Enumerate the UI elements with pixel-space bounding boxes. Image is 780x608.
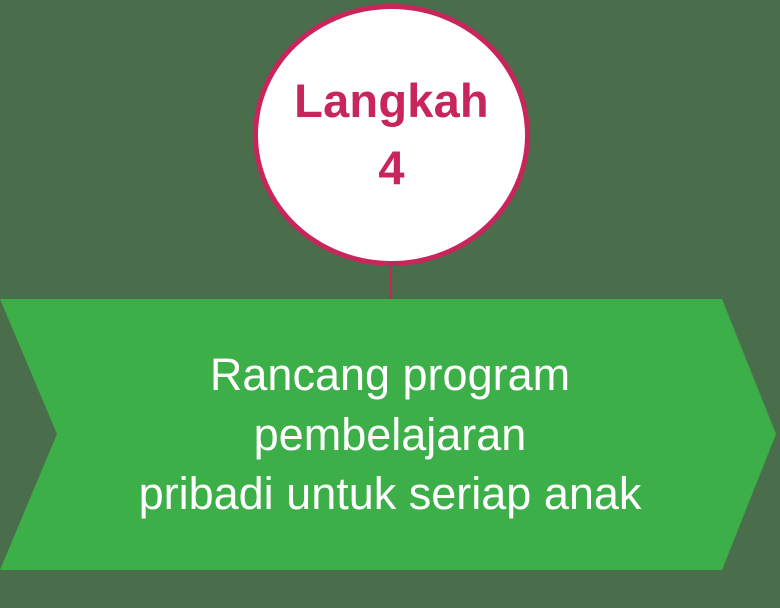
infographic-step-canvas: Langkah 4 Rancang program pembelajaran p… xyxy=(0,0,780,608)
step-label: Langkah xyxy=(294,76,489,127)
step-badge-circle: Langkah 4 xyxy=(253,4,530,266)
banner-chevron-shape xyxy=(0,299,780,570)
step-number: 4 xyxy=(378,143,404,194)
